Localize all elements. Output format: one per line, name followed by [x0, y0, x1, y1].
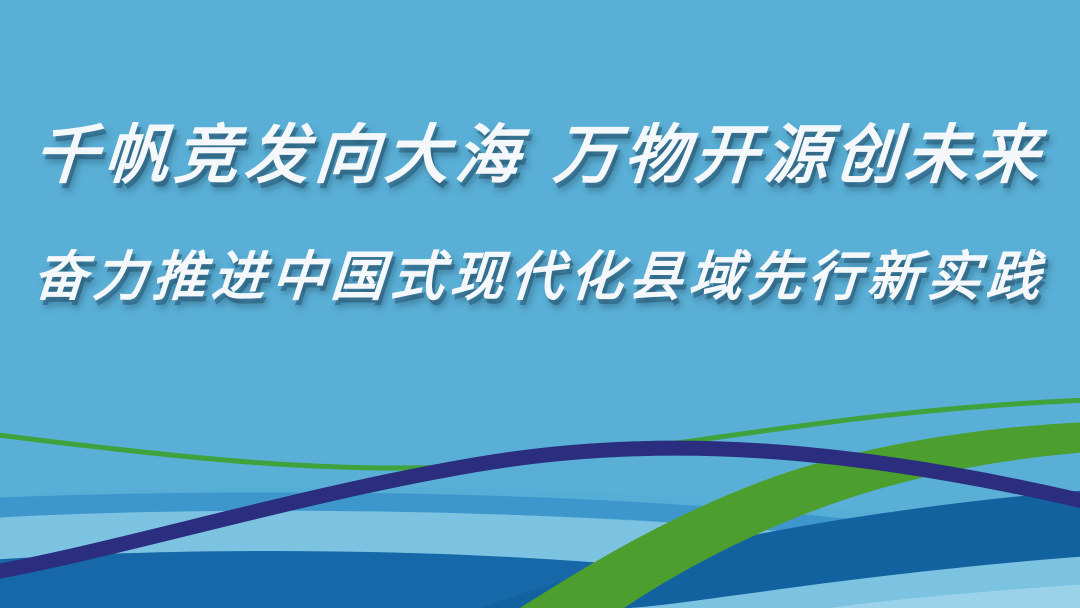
headline-block: 千帆竞发向大海 万物开源创未来 奋力推进中国式现代化县域先行新实践 [0, 0, 1080, 400]
wave-ribbon-graphic [0, 378, 1080, 608]
poster-banner: 千帆竞发向大海 万物开源创未来 奋力推进中国式现代化县域先行新实践 [0, 0, 1080, 608]
headline-line-1: 千帆竞发向大海 万物开源创未来 [0, 104, 1080, 196]
wave-svg [0, 378, 1080, 608]
headline-line-2: 奋力推进中国式现代化县域先行新实践 [0, 234, 1080, 311]
